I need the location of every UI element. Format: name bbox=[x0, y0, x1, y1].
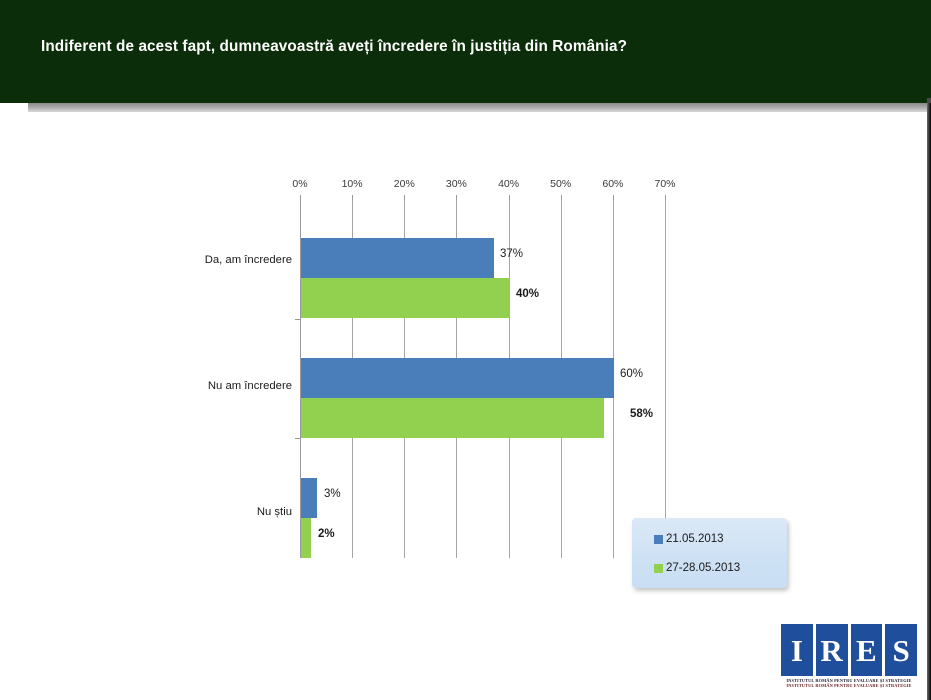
legend-swatch-icon-series2 bbox=[654, 564, 663, 573]
page-title: Indiferent de acest fapt, dumneavoastră … bbox=[41, 38, 627, 56]
legend-swatch-icon-series1 bbox=[654, 535, 663, 544]
bar-value-series1-cat0: 37% bbox=[500, 248, 523, 260]
ires-letter-e: E bbox=[851, 624, 883, 676]
bar-series2-cat0 bbox=[301, 278, 510, 318]
x-tick-mark-50 bbox=[561, 195, 562, 200]
bar-series2-cat2 bbox=[301, 518, 311, 558]
slide-body: 0% 10% 20% 30% 40% 50% 60% 70% Da, am în… bbox=[0, 112, 927, 700]
x-tick-label-20: 20% bbox=[394, 178, 415, 190]
legend-item-1[interactable]: 27-28.05.2013 bbox=[654, 562, 740, 574]
ires-letter-r: R bbox=[816, 624, 848, 676]
ires-letter-boxes: I R E S bbox=[781, 624, 917, 676]
axis-tick-sep-2 bbox=[295, 438, 300, 439]
plot-area: 37% 40% 60% 58% 3% 2% 21.05.2013 bbox=[300, 200, 665, 558]
x-tick-mark-0 bbox=[300, 195, 301, 200]
header-left-notch bbox=[0, 103, 28, 112]
x-tick-label-40: 40% bbox=[498, 178, 519, 190]
ires-letter-s: S bbox=[885, 624, 917, 676]
ires-subtitle: INSTITUTUL ROMÂN PENTRU EVALUARE ȘI STRA… bbox=[781, 678, 917, 689]
bar-series1-cat0 bbox=[301, 238, 494, 278]
x-tick-label-60: 60% bbox=[602, 178, 623, 190]
x-tick-mark-60 bbox=[613, 195, 614, 200]
slide-right-edge bbox=[927, 103, 931, 700]
ires-letter-i: I bbox=[781, 624, 813, 676]
ires-subtitle-line2: INSTITUTUL ROMÂN PENTRU EVALUARE ȘI STRA… bbox=[781, 683, 917, 688]
category-label-1: Nu am încredere bbox=[208, 380, 292, 392]
axis-tick-sep-1 bbox=[295, 319, 300, 320]
x-tick-label-70: 70% bbox=[654, 178, 675, 190]
header-top-rule bbox=[0, 0, 931, 3]
bar-series1-cat2 bbox=[301, 478, 317, 518]
presentation-slide: Indiferent de acest fapt, dumneavoastră … bbox=[0, 0, 931, 700]
bar-series2-cat1 bbox=[301, 398, 604, 438]
x-tick-label-0: 0% bbox=[292, 178, 307, 190]
x-tick-label-10: 10% bbox=[342, 178, 363, 190]
bar-value-series1-cat2: 3% bbox=[324, 488, 341, 500]
bar-value-series1-cat1: 60% bbox=[620, 368, 643, 380]
x-tick-label-30: 30% bbox=[446, 178, 467, 190]
x-tick-mark-40 bbox=[509, 195, 510, 200]
gridline-70 bbox=[665, 200, 666, 558]
x-tick-mark-20 bbox=[404, 195, 405, 200]
y-axis-category-labels: Da, am încredere Nu am încredere Nu știu bbox=[185, 200, 292, 558]
bar-chart: 0% 10% 20% 30% 40% 50% 60% 70% Da, am în… bbox=[185, 170, 685, 575]
category-label-2: Nu știu bbox=[257, 506, 292, 518]
x-tick-mark-70 bbox=[665, 195, 666, 200]
bar-value-series2-cat1: 58% bbox=[630, 408, 653, 420]
x-axis-labels: 0% 10% 20% 30% 40% 50% 60% 70% bbox=[300, 178, 665, 196]
ires-logo: I R E S INSTITUTUL ROMÂN PENTRU EVALUARE… bbox=[781, 624, 917, 692]
legend-label-series2: 27-28.05.2013 bbox=[666, 562, 740, 574]
slide-header-band: Indiferent de acest fapt, dumneavoastră … bbox=[0, 0, 931, 103]
x-tick-mark-10 bbox=[352, 195, 353, 200]
x-tick-mark-30 bbox=[456, 195, 457, 200]
bar-value-series2-cat0: 40% bbox=[516, 288, 539, 300]
chart-legend[interactable]: 21.05.2013 27-28.05.2013 bbox=[632, 518, 787, 588]
x-tick-label-50: 50% bbox=[550, 178, 571, 190]
category-label-0: Da, am încredere bbox=[205, 254, 292, 266]
legend-label-series1: 21.05.2013 bbox=[666, 533, 724, 545]
legend-item-0[interactable]: 21.05.2013 bbox=[654, 533, 724, 545]
bar-series1-cat1 bbox=[301, 358, 614, 398]
header-shadow-bar bbox=[0, 103, 931, 112]
bar-value-series2-cat2: 2% bbox=[318, 528, 335, 540]
